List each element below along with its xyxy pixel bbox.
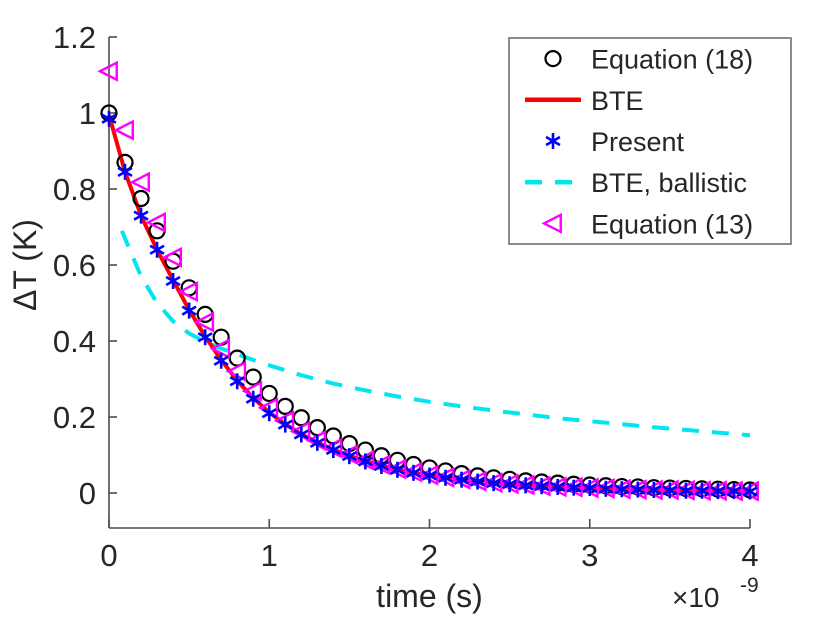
legend[interactable]: Equation (18)BTEPresentBTE, ballisticEqu… [509, 38, 791, 244]
marker-circle [246, 370, 261, 385]
legend-label: Equation (13) [591, 209, 753, 239]
x-axis-multiplier: ×10-9 [672, 574, 759, 613]
legend-label: Equation (18) [591, 45, 753, 75]
marker-left-triangle [132, 174, 149, 191]
x-axis-multiplier-base: ×10 [672, 582, 720, 613]
y-tick-label: 1.2 [53, 20, 96, 55]
x-tick-label: 0 [100, 538, 117, 573]
y-tick-label: 0.2 [53, 400, 96, 435]
legend-label: Present [591, 127, 685, 157]
x-tick-label: 3 [581, 538, 598, 573]
y-tick-label: 1 [79, 96, 96, 131]
y-tick-label: 0.4 [53, 324, 96, 359]
plot-svg: 00.20.40.60.811.201234time (s)ΔT (K)×10-… [0, 0, 830, 623]
y-tick-label: 0.8 [53, 172, 96, 207]
y-axis-label: ΔT (K) [7, 219, 43, 311]
legend-label: BTE [591, 86, 644, 116]
x-tick-group: 01234 [100, 519, 758, 573]
legend-label: BTE, ballistic [591, 168, 747, 198]
y-tick-label: 0.6 [53, 248, 96, 283]
y-tick-group: 00.20.40.60.811.2 [53, 20, 117, 511]
x-tick-label: 1 [261, 538, 278, 573]
x-tick-label: 4 [741, 538, 758, 573]
x-axis-label: time (s) [376, 578, 483, 614]
marker-circle [278, 399, 293, 414]
x-tick-label: 2 [421, 538, 438, 573]
marker-left-triangle [116, 122, 133, 139]
x-axis-multiplier-exponent: -9 [740, 574, 759, 597]
marker-circle [262, 386, 277, 401]
y-tick-label: 0 [79, 476, 96, 511]
figure-canvas: 00.20.40.60.811.201234time (s)ΔT (K)×10-… [0, 0, 830, 623]
